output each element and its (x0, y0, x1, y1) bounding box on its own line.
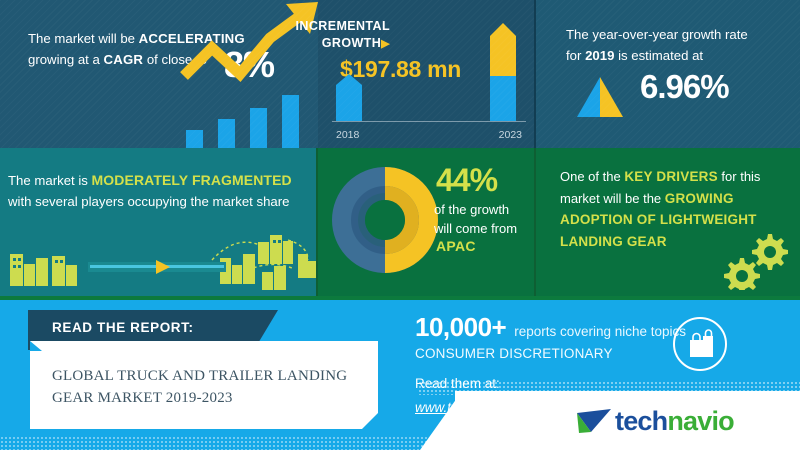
fragmentation-text-bold: MODERATELY FRAGMENTED (92, 172, 292, 188)
apac-subtext-line1: of the growth (434, 202, 509, 217)
yoy-text-part1: The year-over-year growth rate (566, 27, 748, 42)
apac-subtext: of the growth will come from (434, 200, 538, 238)
fragmentation-text-part2: with several players occupying the marke… (8, 194, 289, 209)
pillar-2018 (336, 74, 362, 121)
apac-region-label: APAC (436, 238, 476, 254)
footer-dot-pattern (0, 436, 800, 450)
year-label-end: 2023 (499, 129, 522, 141)
technavio-logo: technavio (575, 404, 734, 438)
cagr-text-bold2: CAGR (104, 52, 144, 67)
incremental-growth-title-line2: GROWTH (322, 36, 381, 50)
top-row: The market will be ACCELERATING growing … (0, 0, 800, 148)
year-label-start: 2018 (336, 129, 359, 141)
reports-count-text: reports covering niche topics (514, 324, 686, 339)
city-buildings-icon (0, 232, 318, 294)
yoy-text: The year-over-year growth rate for 2019 … (566, 24, 781, 66)
shopping-bags-icon (672, 316, 728, 372)
panel-yoy-growth: The year-over-year growth rate for 2019 … (536, 0, 800, 148)
panel-key-drivers: One of the KEY DRIVERS for this market w… (536, 148, 800, 296)
pillar-2023 (490, 23, 516, 121)
yoy-text-bold: 2019 (585, 48, 614, 63)
infographic-canvas: The market will be ACCELERATING growing … (0, 0, 800, 450)
yoy-text-part2: for (566, 48, 585, 63)
chart-bar (186, 130, 203, 148)
growth-arrow-icon (178, 0, 328, 110)
key-drivers-text-bold1: KEY DRIVERS (624, 169, 717, 184)
triangle-growth-icon (576, 76, 624, 118)
report-title: GLOBAL TRUCK AND TRAILER LANDING GEAR MA… (52, 365, 362, 409)
logo-text: technavio (615, 406, 734, 437)
logo-text-navio: navio (667, 406, 734, 436)
incremental-growth-title: INCREMENTAL GROWTH▶ (230, 18, 390, 53)
donut-chart (331, 166, 439, 274)
apac-percent: 44% (436, 162, 497, 199)
cagr-text-part1: The market will be (28, 31, 139, 46)
incremental-growth-title-line1: INCREMENTAL (296, 19, 390, 33)
yoy-text-part3: is estimated at (614, 48, 703, 63)
logo-text-tech: tech (615, 406, 667, 436)
read-report-label: READ THE REPORT: (52, 320, 194, 335)
fragmentation-text: The market is MODERATELY FRAGMENTED with… (8, 170, 308, 212)
middle-row: The market is MODERATELY FRAGMENTED with… (0, 148, 800, 296)
cagr-text-part2: growing at a (28, 52, 104, 67)
reports-count: 10,000+ (415, 312, 506, 342)
report-category: CONSUMER DISCRETIONARY (415, 346, 613, 361)
chart-axis (332, 121, 526, 122)
report-card[interactable]: GLOBAL TRUCK AND TRAILER LANDING GEAR MA… (30, 341, 378, 429)
technavio-mark-icon (575, 406, 615, 436)
footer-row: READ THE REPORT: GLOBAL TRUCK AND TRAILE… (0, 296, 800, 450)
card-corner-fold (30, 341, 42, 351)
panel-incremental-growth: INCREMENTAL GROWTH▶ $197.88 mn 2018 2023 (318, 0, 536, 148)
chart-bar (250, 108, 267, 148)
panel-apac-share: 44% of the growth will come from APAC (318, 148, 536, 296)
fragmentation-text-part1: The market is (8, 173, 92, 188)
gears-icon (722, 226, 792, 290)
caret-icon: ▶ (381, 38, 390, 50)
reports-count-line: 10,000+reports covering niche topics (415, 312, 686, 343)
yoy-growth-rate: 6.96% (640, 68, 729, 106)
key-drivers-text-part1: One of the (560, 169, 624, 184)
chart-bar (218, 119, 235, 148)
apac-subtext-line2: will come from (434, 221, 517, 236)
panel-fragmentation: The market is MODERATELY FRAGMENTED with… (0, 148, 318, 296)
